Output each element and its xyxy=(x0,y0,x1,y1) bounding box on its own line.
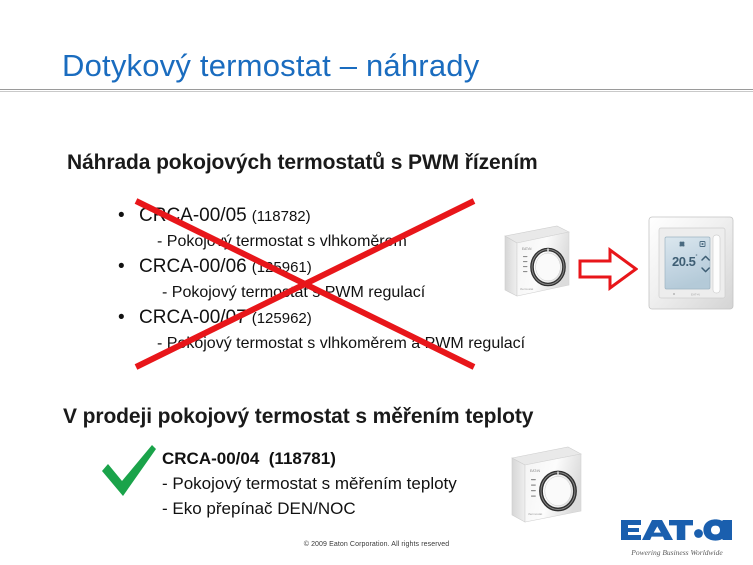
bullet-icon: • xyxy=(113,305,139,331)
right-arrow-icon xyxy=(578,247,638,291)
analog-dial-thermostat-icon: EAT•N thermostat xyxy=(499,222,571,302)
green-check-icon xyxy=(98,443,160,499)
bullet-icon: • xyxy=(113,203,139,229)
product-order-number: (125962) xyxy=(252,310,312,327)
product-code-text: CRCA-00/05 xyxy=(139,205,247,226)
product-description: - Pokojový termostat s vlhkoměrem a PWM … xyxy=(113,331,513,356)
analog-dial-thermostat-icon: EAT•N thermostat xyxy=(505,443,583,528)
section-heading-discontinued: Náhrada pokojových termostatů s PWM říze… xyxy=(67,150,538,176)
digital-touch-thermostat-icon: 20.5 ° EAT•N xyxy=(643,213,743,313)
list-item: • CRCA-00/06(125961) xyxy=(113,254,513,280)
heating-indicator-icon xyxy=(679,241,685,246)
svg-text:°: ° xyxy=(696,254,698,260)
product-description: - Pokojový termostat s vlhkoměrem xyxy=(113,229,513,254)
svg-text:thermostat: thermostat xyxy=(520,287,533,291)
page-title: Dotykový termostat – náhrady xyxy=(62,48,479,84)
eaton-wordmark-icon xyxy=(619,518,735,542)
product-feature: - Pokojový termostat s měřením teploty xyxy=(162,471,512,496)
bullet-icon: • xyxy=(113,254,139,280)
svg-text:EAT•N: EAT•N xyxy=(691,293,700,297)
available-product-block: CRCA-00/04 (118781) - Pokojový termostat… xyxy=(162,447,512,521)
svg-text:thermostat: thermostat xyxy=(528,512,542,516)
eaton-tagline: Powering Business Worldwide xyxy=(619,548,735,558)
list-item: • CRCA-00/07(125962) xyxy=(113,305,513,331)
product-code-text: CRCA-00/07 xyxy=(139,307,247,328)
product-order-number: (118782) xyxy=(252,208,311,225)
product-code-text: CRCA-00/06 xyxy=(139,256,247,277)
product-code: CRCA-00/04 (118781) xyxy=(162,447,512,471)
discontinued-product-list: • CRCA-00/05(118782) - Pokojový termosta… xyxy=(113,203,513,356)
product-code: CRCA-00/07(125962) xyxy=(139,305,312,332)
product-code-text: CRCA-00/04 xyxy=(162,449,259,468)
list-item: • CRCA-00/05(118782) xyxy=(113,203,513,229)
svg-text:EAT•N: EAT•N xyxy=(522,247,532,251)
product-code: CRCA-00/05(118782) xyxy=(139,203,311,230)
title-divider xyxy=(0,89,753,92)
eaton-logo: Powering Business Worldwide xyxy=(619,518,735,554)
product-description: - Pokojový termostat s PWM regulací xyxy=(113,280,513,305)
product-code: CRCA-00/06(125961) xyxy=(139,254,312,281)
product-feature: - Eko přepínač DEN/NOC xyxy=(162,496,512,521)
product-order-number: (118781) xyxy=(269,449,336,468)
product-order-number: (125961) xyxy=(252,259,312,276)
section-heading-available: V prodeji pokojový termostat s měřením t… xyxy=(63,404,533,430)
svg-text:EAT•N: EAT•N xyxy=(530,469,541,473)
slide-canvas: Dotykový termostat – náhrady Náhrada pok… xyxy=(0,0,753,565)
temperature-readout: 20.5 xyxy=(672,254,696,269)
